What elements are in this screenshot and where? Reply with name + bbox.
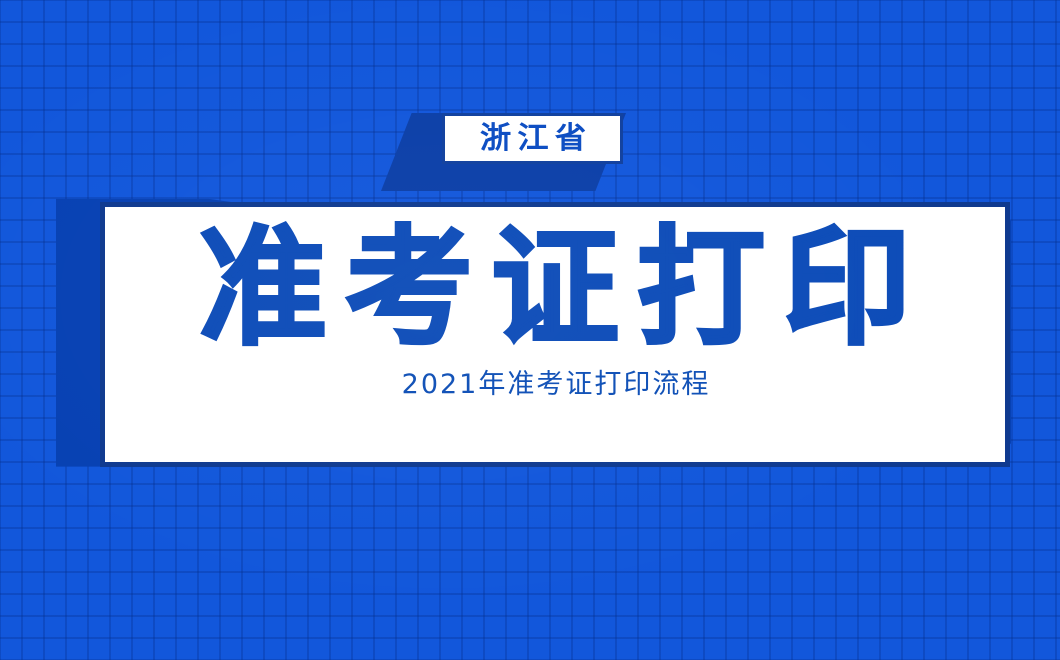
page-title: 准考证打印 (181, 225, 929, 353)
province-badge: 浙江省 (442, 113, 623, 164)
badge-group: 浙江省 (0, 0, 1060, 200)
page-subtitle: 2021年准考证打印流程 (400, 371, 711, 398)
main-panel: 准考证打印 2021年准考证打印流程 (100, 202, 1010, 467)
province-badge-label: 浙江省 (473, 124, 592, 154)
poster-canvas: 浙江省 准考证打印 2021年准考证打印流程 (0, 0, 1060, 660)
main-panel-content: 准考证打印 2021年准考证打印流程 (105, 207, 1005, 462)
